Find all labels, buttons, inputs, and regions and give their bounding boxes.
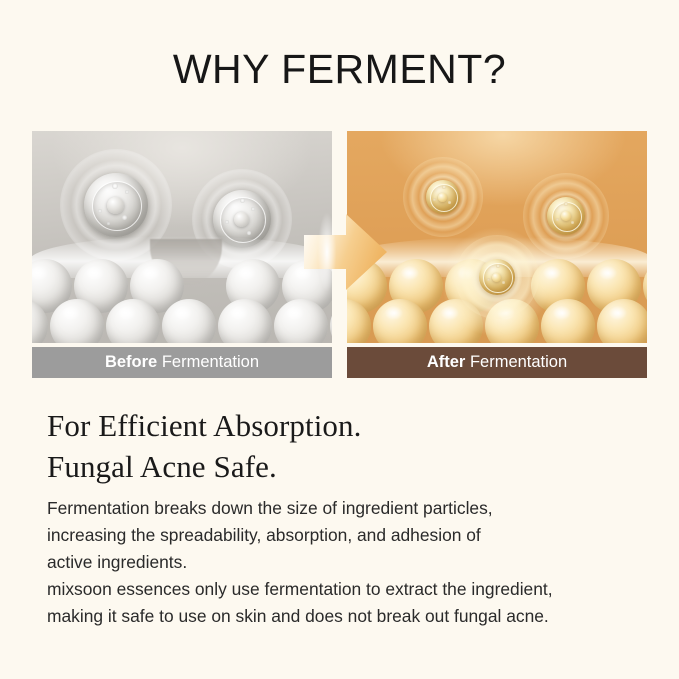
before-label-bold: Before bbox=[105, 353, 157, 371]
particle-bubble bbox=[225, 220, 229, 224]
after-fermentation-label: After Fermentation bbox=[347, 347, 647, 378]
description-line: mixsoon essences only use fermentation t… bbox=[47, 576, 647, 603]
before-fermentation-illustration bbox=[32, 131, 332, 343]
particle-core bbox=[479, 259, 515, 295]
description-line: Fermentation breaks down the size of ing… bbox=[47, 495, 647, 522]
particle-core bbox=[84, 173, 148, 237]
after-label-bold: After bbox=[427, 353, 466, 371]
headline-line-2: Fungal Acne Safe. bbox=[47, 446, 361, 487]
skin-cell bbox=[597, 299, 647, 343]
particle-bubble bbox=[556, 218, 559, 221]
particle-bubble bbox=[107, 222, 110, 225]
after-label-rest: Fermentation bbox=[465, 353, 567, 371]
before-fermentation-label: Before Fermentation bbox=[32, 347, 332, 378]
description-line: making it safe to use on skin and does n… bbox=[47, 603, 647, 630]
particle-core bbox=[547, 197, 585, 235]
skin-cell bbox=[218, 299, 272, 343]
particle-bubble bbox=[487, 278, 490, 281]
skin-cell-row-bottom bbox=[32, 299, 324, 343]
transformation-arrow bbox=[304, 213, 388, 291]
arrow-glow bbox=[314, 197, 340, 307]
particle-bubble bbox=[240, 198, 245, 203]
before-label-rest: Fermentation bbox=[157, 353, 259, 371]
section-description: Fermentation breaks down the size of ing… bbox=[47, 495, 647, 630]
skin-cell bbox=[106, 299, 160, 343]
particle-bubble bbox=[571, 221, 574, 224]
section-headline: For Efficient Absorption. Fungal Acne Sa… bbox=[47, 405, 361, 487]
particle-bubble bbox=[98, 209, 102, 213]
particle-bubble bbox=[125, 190, 129, 194]
description-line: increasing the spreadability, absorption… bbox=[47, 522, 647, 549]
particle-bubble bbox=[502, 281, 505, 284]
particle-nucleus bbox=[107, 197, 124, 214]
particle-bubble bbox=[448, 201, 451, 204]
skin-cell bbox=[32, 299, 48, 343]
skin-cell bbox=[541, 299, 595, 343]
skin-cell bbox=[373, 299, 427, 343]
comparison-card-before: Before Fermentation bbox=[32, 131, 332, 378]
gold-particle-icon bbox=[403, 157, 483, 237]
gold-particle-penetrating-icon bbox=[455, 235, 539, 319]
headline-line-1: For Efficient Absorption. bbox=[47, 405, 361, 446]
after-fermentation-illustration bbox=[347, 131, 647, 343]
page-title: WHY FERMENT? bbox=[0, 47, 679, 92]
particle-nucleus bbox=[561, 211, 571, 221]
particle-bubble bbox=[442, 185, 446, 189]
skin-cell bbox=[347, 299, 371, 343]
comparison-card-after: After Fermentation bbox=[347, 131, 647, 378]
skin-cell bbox=[162, 299, 216, 343]
particle-bubble bbox=[247, 231, 251, 235]
particle-nucleus bbox=[438, 193, 447, 202]
skin-cell bbox=[50, 299, 104, 343]
description-line: active ingredients. bbox=[47, 549, 647, 576]
particle-core bbox=[426, 180, 460, 214]
particle-nucleus bbox=[234, 212, 249, 227]
particle-bubble bbox=[496, 264, 500, 268]
